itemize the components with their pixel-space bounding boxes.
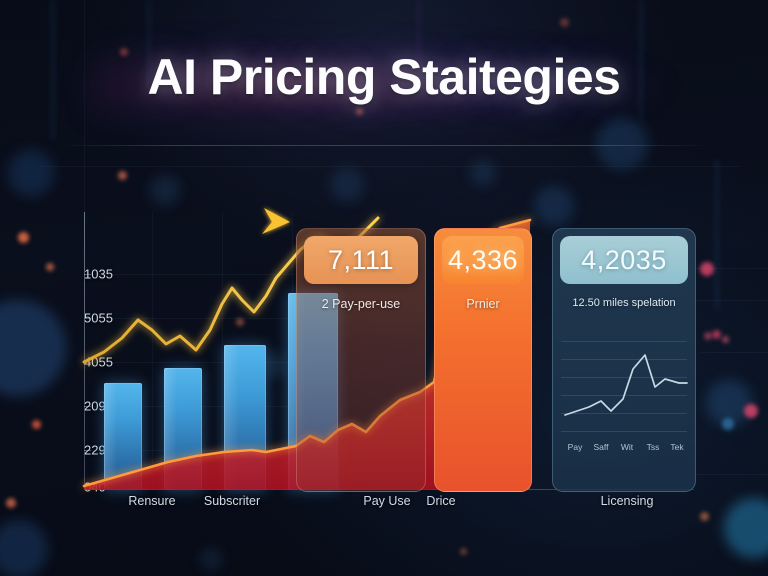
x-label-drice: Drice <box>426 494 455 508</box>
mini-tick-2: Wit <box>621 442 633 452</box>
mini-tick-4: Tek <box>670 442 683 452</box>
kpi-card-pay-per-use[interactable]: 7,111 2 Pay-per-use <box>296 228 426 492</box>
x-label-payuse: Pay Use <box>363 494 410 508</box>
kpi-card-prnier[interactable]: 4,336 Prnier <box>434 228 532 492</box>
kpi-card-3-value: 4,2035 <box>581 245 667 276</box>
kpi-card-2-label: Prnier <box>435 297 531 311</box>
kpi-card-3-label: 12.50 miles spelation <box>553 297 695 309</box>
mini-tick-3: Tss <box>647 442 660 452</box>
mini-tick-1: Saff <box>594 442 609 452</box>
mini-tick-0: Pay <box>568 442 583 452</box>
kpi-card-licensing[interactable]: 4,2035 12.50 miles spelation Pay Saff Wi… <box>552 228 696 492</box>
kpi-card-3-header: 4,2035 <box>560 236 688 284</box>
x-label-licensing: Licensing <box>601 494 654 508</box>
mini-sparkline <box>561 341 687 437</box>
kpi-card-1-value: 7,111 <box>328 245 394 276</box>
kpi-card-1-label: 2 Pay-per-use <box>297 297 425 311</box>
x-label-rensure: Rensure <box>128 494 175 508</box>
kpi-card-1-header: 7,111 <box>304 236 418 284</box>
kpi-card-3-mini-chart: Pay Saff Wit Tss Tek <box>561 341 687 441</box>
x-label-subscriter: Subscriter <box>204 494 260 508</box>
poster-canvas: AI Pricing Staitegies 1035 5055 4055 209… <box>0 0 768 576</box>
kpi-card-2-value: 4,336 <box>448 245 518 276</box>
kpi-card-2-header: 4,336 <box>442 236 524 284</box>
